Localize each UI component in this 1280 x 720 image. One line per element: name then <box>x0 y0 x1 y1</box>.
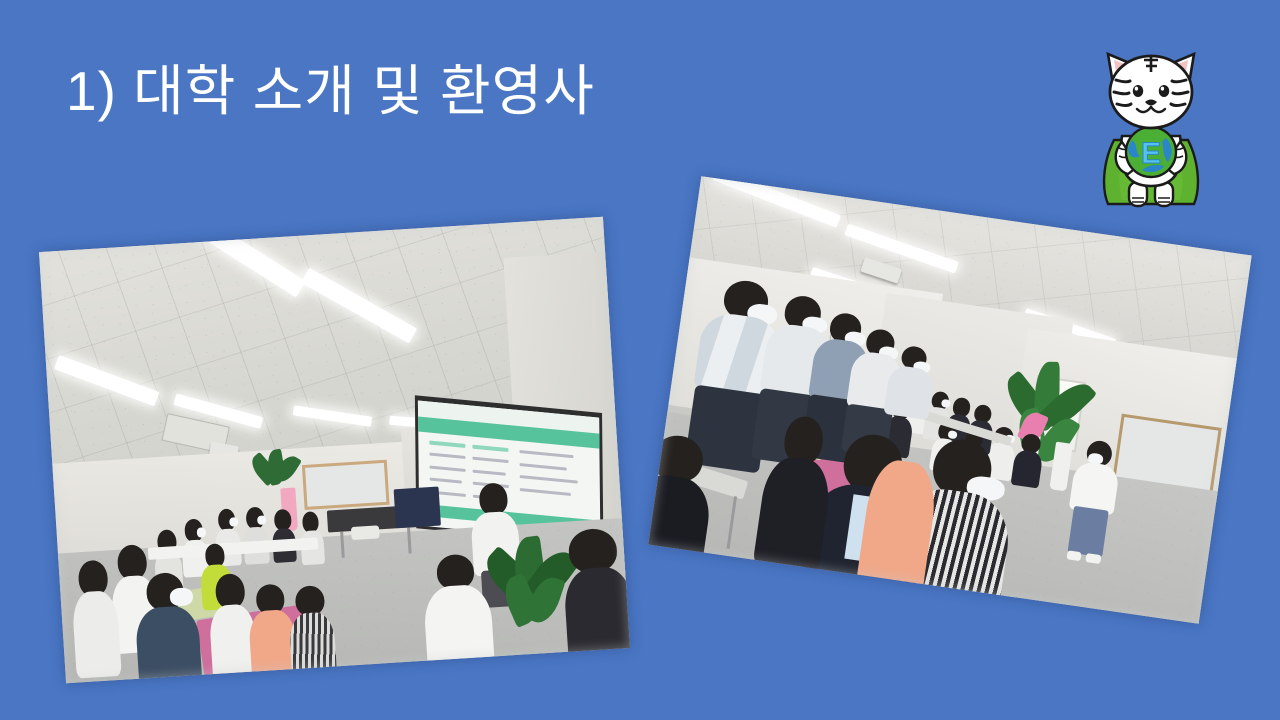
foreground-attendee-right <box>420 553 495 674</box>
presentation-slide: 1) 대학 소개 및 환영사 <box>0 0 1280 720</box>
svg-text:E: E <box>1141 137 1161 170</box>
photo-left-scene <box>39 217 630 684</box>
photo-right-scene <box>648 176 1251 623</box>
foreground-attendee <box>287 584 338 682</box>
white-tiger-mascot-logo: E <box>1092 44 1210 214</box>
seated-attendee <box>270 509 297 562</box>
seated-attendee <box>242 506 270 564</box>
potted-plant <box>250 448 305 512</box>
foreground-attendee-masked <box>133 571 202 683</box>
photo-right-orientation-session <box>648 176 1251 623</box>
foreground-attendee-edge <box>560 527 630 661</box>
wall-mirror <box>301 460 389 510</box>
av-rack <box>394 487 442 529</box>
page-title: 1) 대학 소개 및 환영사 <box>66 60 595 123</box>
photo-left-orientation-session <box>39 217 630 684</box>
foreground-attendee <box>70 559 122 674</box>
stool <box>351 525 380 540</box>
